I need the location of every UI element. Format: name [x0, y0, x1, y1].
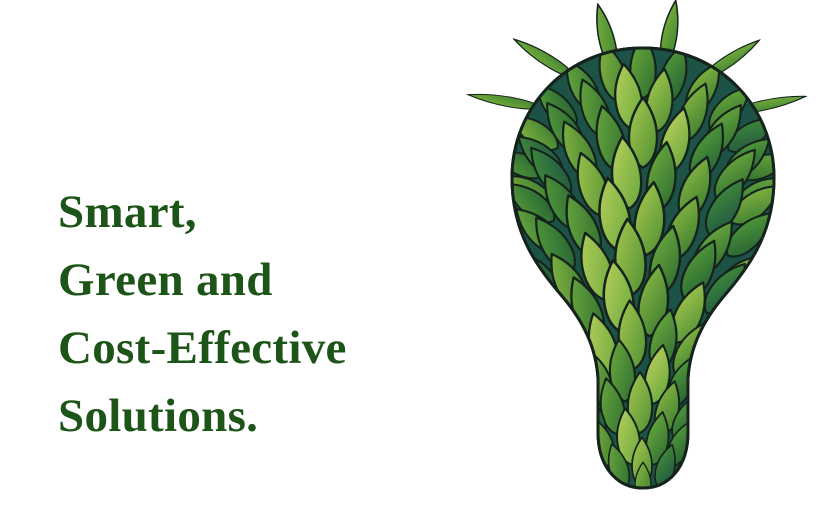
headline-line-1: Smart, [58, 178, 458, 246]
leaf-lightbulb-illustration [462, 0, 825, 510]
headline-line-4: Solutions. [58, 382, 458, 450]
headline-line-2: Green and [58, 246, 458, 314]
page-title: Smart, Green and Cost-Effective Solution… [58, 178, 458, 450]
bulb-body [491, 35, 793, 503]
headline-line-3: Cost-Effective [58, 314, 458, 382]
banner-root: Smart, Green and Cost-Effective Solution… [0, 0, 825, 510]
